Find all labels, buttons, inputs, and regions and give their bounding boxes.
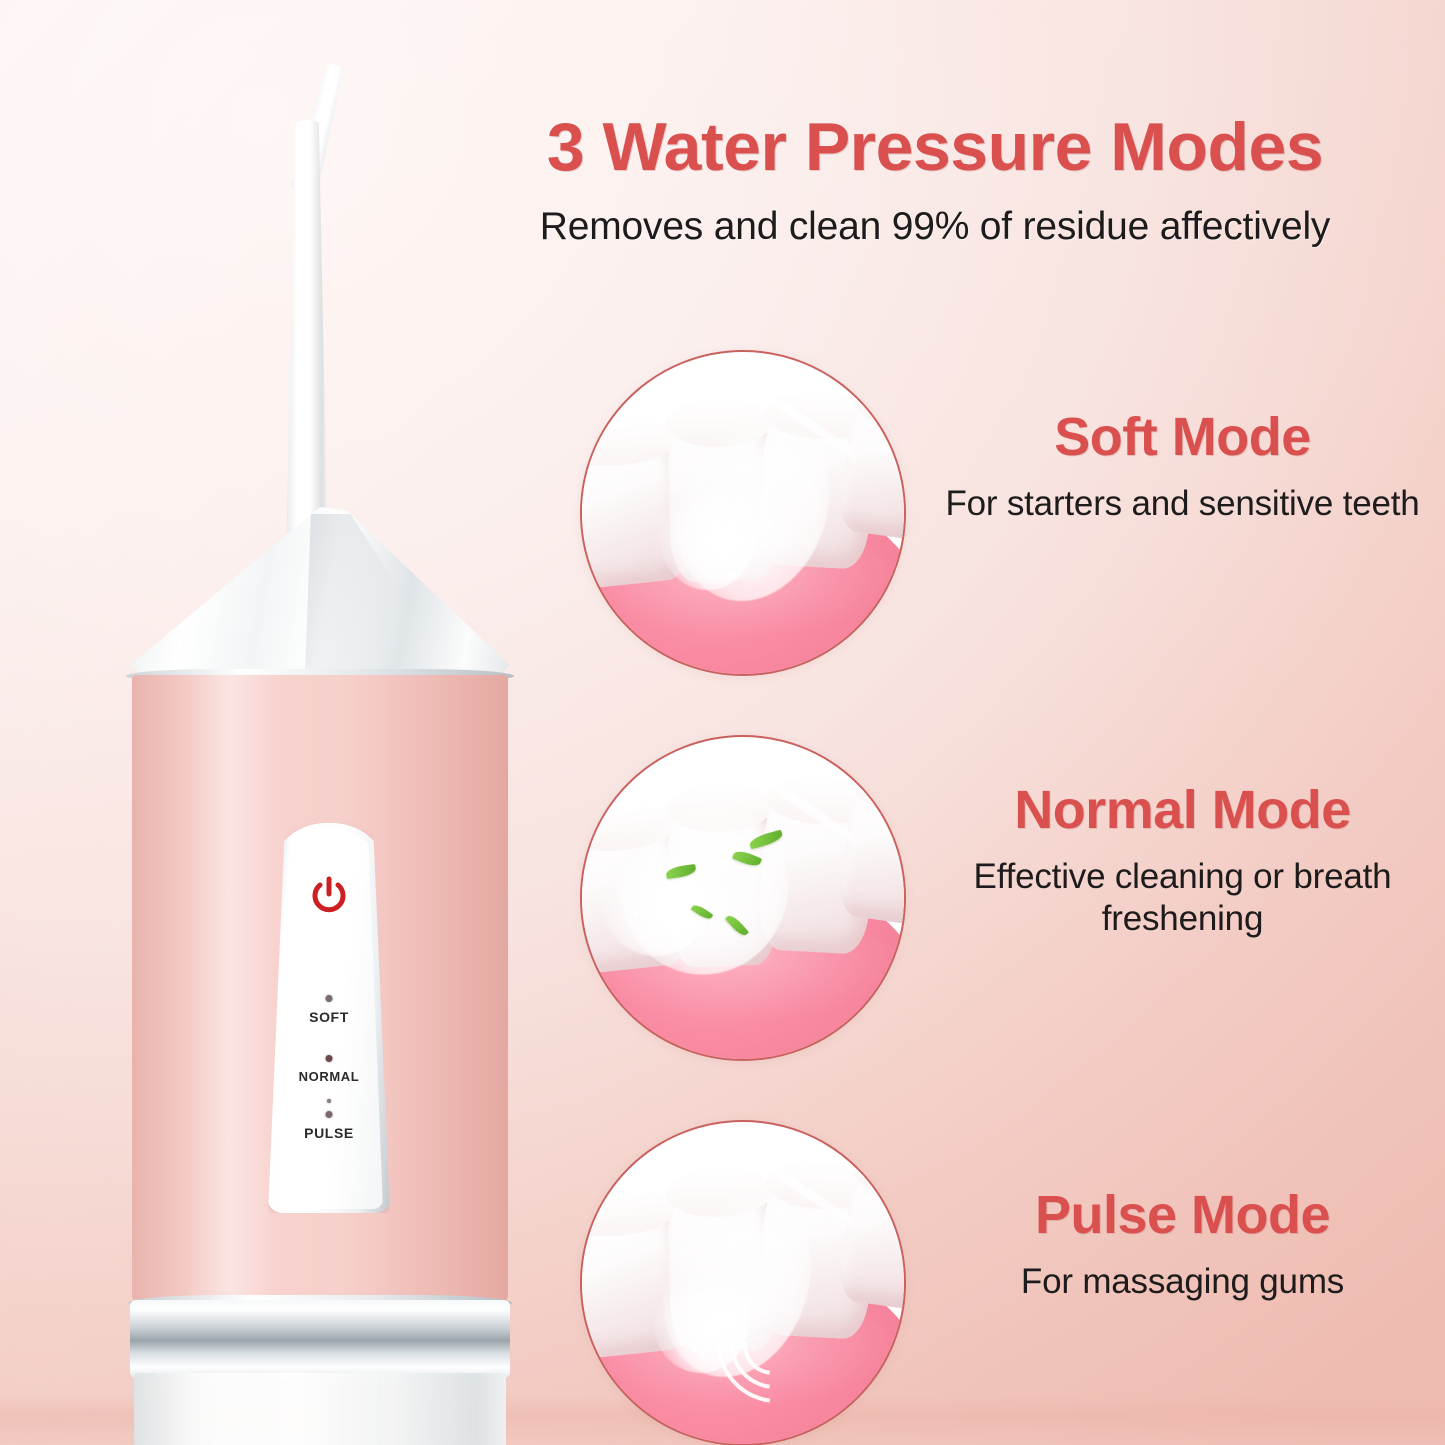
panel-label-normal: NORMAL [268, 1069, 390, 1084]
mode-description-normal: Effective cleaning or breath freshening [920, 856, 1445, 939]
led-indicator-soft [326, 995, 333, 1002]
mode-text-normal: Normal Mode Effective cleaning or breath… [920, 781, 1445, 939]
water-spray [659, 481, 756, 590]
mode-row-normal: Normal Mode Effective cleaning or breath… [560, 735, 1445, 1075]
nozzle-wand [286, 60, 328, 560]
mode-description-pulse: For massaging gums [920, 1261, 1445, 1302]
page-title: 3 Water Pressure Modes [430, 112, 1440, 183]
panel-label-soft: SOFT [268, 1009, 390, 1025]
mode-text-pulse: Pulse Mode For massaging gums [920, 1186, 1445, 1303]
mode-title-soft: Soft Mode [920, 408, 1445, 467]
water-tank [134, 1373, 506, 1445]
control-panel[interactable]: SOFT NORMAL PULSE [268, 823, 390, 1213]
chrome-band [130, 1300, 510, 1378]
illustration-pulse-mode [580, 1120, 906, 1445]
headline-block: 3 Water Pressure Modes Removes and clean… [430, 112, 1440, 249]
power-icon[interactable] [308, 875, 350, 917]
panel-label-pulse: PULSE [268, 1125, 390, 1141]
led-indicator-pulse [326, 1111, 333, 1118]
led-indicator-pulse-small [327, 1099, 331, 1103]
mode-row-pulse: Pulse Mode For massaging gums [560, 1120, 1445, 1445]
device-body: SOFT NORMAL PULSE [132, 675, 508, 1305]
mode-title-pulse: Pulse Mode [920, 1186, 1445, 1245]
water-droplet [698, 552, 703, 557]
device-cap [130, 507, 510, 679]
water-flosser-device: SOFT NORMAL PULSE [110, 55, 530, 1445]
water-droplet [679, 1341, 684, 1346]
body-highlight [185, 675, 275, 1305]
page-subtitle: Removes and clean 99% of residue affecti… [430, 205, 1440, 249]
illustration-normal-mode [580, 735, 906, 1061]
mode-description-soft: For starters and sensitive teeth [920, 483, 1445, 524]
water-droplet [672, 937, 677, 942]
illustration-soft-mode [580, 350, 906, 676]
led-indicator-normal [326, 1055, 333, 1062]
water-droplet [634, 911, 639, 916]
tank-highlight [194, 1373, 261, 1445]
mode-row-soft: Soft Mode For starters and sensitive tee… [560, 350, 1445, 690]
mode-title-normal: Normal Mode [920, 781, 1445, 840]
cap-shading [305, 514, 457, 679]
mode-text-soft: Soft Mode For starters and sensitive tee… [920, 408, 1445, 525]
water-spray [601, 846, 710, 955]
product-infographic: 3 Water Pressure Modes Removes and clean… [0, 0, 1445, 1445]
